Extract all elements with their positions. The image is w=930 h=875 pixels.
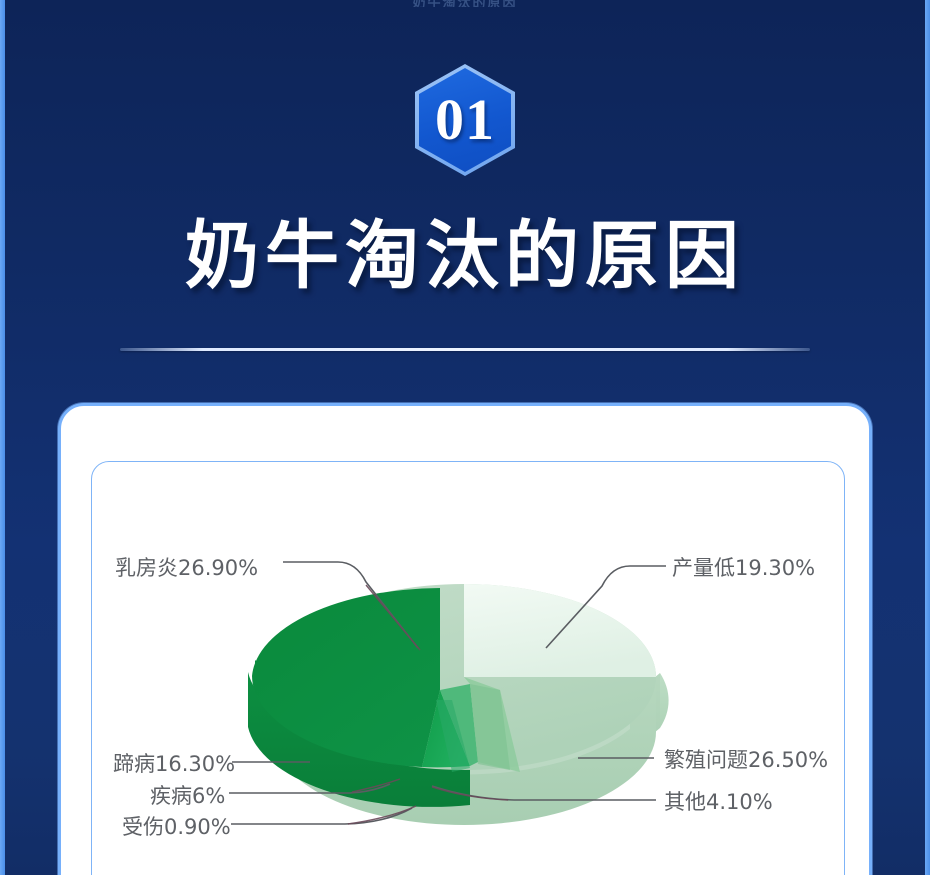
label-low-yield: 产量低19.30%	[672, 552, 815, 582]
label-disease: 疾病6%	[150, 780, 225, 810]
side-wall-other	[660, 673, 669, 728]
pie-chart: 乳房炎26.90% 产量低19.30% 蹄病16.30% 疾病6% 受伤0.90…	[0, 0, 930, 875]
label-reproduction: 繁殖问题26.50%	[664, 744, 828, 774]
label-hoof-disease: 蹄病16.30%	[113, 748, 235, 778]
label-mastitis: 乳房炎26.90%	[115, 552, 258, 582]
slide-canvas: 奶牛淘汰的原因 01 奶牛淘汰的原因	[0, 0, 930, 875]
label-injury: 受伤0.90%	[122, 811, 231, 841]
slice-top-low-yield	[464, 584, 656, 677]
label-other: 其他4.10%	[664, 786, 773, 816]
